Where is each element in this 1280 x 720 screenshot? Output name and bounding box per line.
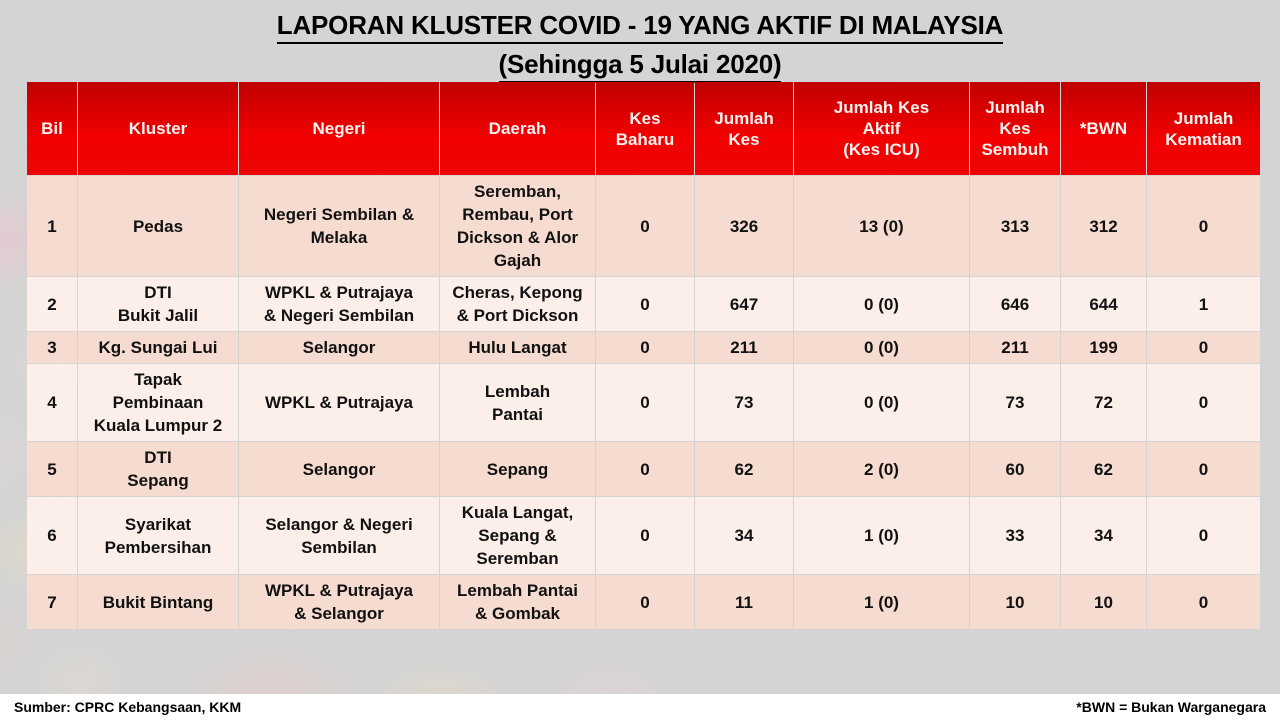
column-header-kematian: JumlahKematian [1147,82,1260,175]
cell-negeri: WPKL & Putrajaya& Selangor [239,575,439,629]
column-header-daerah: Daerah [440,82,595,175]
table-body: 1PedasNegeri Sembilan &MelakaSeremban,Re… [27,176,1260,629]
cell-kluster: Pedas [78,176,238,276]
cell-negeri: WPKL & Putrajaya& Negeri Sembilan [239,277,439,331]
table-row: 7Bukit BintangWPKL & Putrajaya& Selangor… [27,575,1260,629]
cell-kes-sembuh: 60 [970,442,1060,496]
cell-kes-aktif: 1 (0) [794,497,969,574]
column-header-kluster: Kluster [78,82,238,175]
cell-bwn: 72 [1061,364,1146,441]
cell-kes-aktif: 0 (0) [794,277,969,331]
table-header-row: BilKlusterNegeriDaerahKesBaharuJumlahKes… [27,82,1260,175]
cell-bwn: 34 [1061,497,1146,574]
column-header-kes-sembuh: JumlahKesSembuh [970,82,1060,175]
cell-jumlah-kes: 647 [695,277,793,331]
table-row: 4TapakPembinaanKuala Lumpur 2WPKL & Putr… [27,364,1260,441]
cell-kes-sembuh: 211 [970,332,1060,363]
cell-kluster: SyarikatPembersihan [78,497,238,574]
cell-daerah: Seremban,Rembau, PortDickson & AlorGajah [440,176,595,276]
cell-bwn: 199 [1061,332,1146,363]
cell-jumlah-kes: 326 [695,176,793,276]
cell-kluster: TapakPembinaanKuala Lumpur 2 [78,364,238,441]
cell-kematian: 0 [1147,176,1260,276]
column-header-bwn: *BWN [1061,82,1146,175]
cell-bwn: 10 [1061,575,1146,629]
cell-kes-aktif: 13 (0) [794,176,969,276]
cell-bwn: 312 [1061,176,1146,276]
cell-bwn: 62 [1061,442,1146,496]
cell-kes-sembuh: 646 [970,277,1060,331]
column-header-bil: Bil [27,82,77,175]
cell-jumlah-kes: 11 [695,575,793,629]
cell-kematian: 0 [1147,364,1260,441]
cell-kes-baharu: 0 [596,176,694,276]
cell-kes-sembuh: 33 [970,497,1060,574]
cell-daerah: Sepang [440,442,595,496]
footer-source: Sumber: CPRC Kebangsaan, KKM [14,699,241,715]
cell-kematian: 0 [1147,497,1260,574]
cell-kes-baharu: 0 [596,497,694,574]
cell-daerah: Hulu Langat [440,332,595,363]
cell-kluster: Kg. Sungai Lui [78,332,238,363]
page-title-line-2: (Sehingga 5 Julai 2020) [499,47,782,83]
cell-jumlah-kes: 34 [695,497,793,574]
page-title-line-1: LAPORAN KLUSTER COVID - 19 YANG AKTIF DI… [277,8,1003,44]
cell-kes-baharu: 0 [596,364,694,441]
cell-kes-sembuh: 73 [970,364,1060,441]
cell-bil: 6 [27,497,77,574]
cell-kes-aktif: 0 (0) [794,332,969,363]
cell-bil: 7 [27,575,77,629]
table-row: 5DTISepangSelangorSepang0622 (0)60620 [27,442,1260,496]
cell-daerah: Cheras, Kepong& Port Dickson [440,277,595,331]
cell-bil: 3 [27,332,77,363]
table-row: 2DTIBukit JalilWPKL & Putrajaya& Negeri … [27,277,1260,331]
cell-daerah: Kuala Langat,Sepang &Seremban [440,497,595,574]
cell-kematian: 0 [1147,332,1260,363]
cell-kluster: Bukit Bintang [78,575,238,629]
table-row: 6SyarikatPembersihanSelangor & NegeriSem… [27,497,1260,574]
cluster-table-container: BilKlusterNegeriDaerahKesBaharuJumlahKes… [26,81,1254,630]
cell-kes-aktif: 2 (0) [794,442,969,496]
column-header-kes-baharu: KesBaharu [596,82,694,175]
slide-canvas: LAPORAN KLUSTER COVID - 19 YANG AKTIF DI… [0,0,1280,720]
cell-negeri: Selangor [239,332,439,363]
cell-daerah: Lembah Pantai& Gombak [440,575,595,629]
column-header-jumlah-kes: JumlahKes [695,82,793,175]
cell-negeri: Selangor [239,442,439,496]
column-header-kes-aktif: Jumlah KesAktif(Kes ICU) [794,82,969,175]
cell-negeri: Selangor & NegeriSembilan [239,497,439,574]
cell-jumlah-kes: 211 [695,332,793,363]
cell-kes-sembuh: 313 [970,176,1060,276]
cell-daerah: LembahPantai [440,364,595,441]
cell-bil: 1 [27,176,77,276]
column-header-negeri: Negeri [239,82,439,175]
footer-note: *BWN = Bukan Warganegara [1076,699,1266,715]
table-header: BilKlusterNegeriDaerahKesBaharuJumlahKes… [27,82,1260,175]
cell-jumlah-kes: 73 [695,364,793,441]
cell-kematian: 0 [1147,442,1260,496]
cell-bil: 2 [27,277,77,331]
cell-bil: 5 [27,442,77,496]
cell-kes-baharu: 0 [596,277,694,331]
cell-kes-sembuh: 10 [970,575,1060,629]
cell-negeri: Negeri Sembilan &Melaka [239,176,439,276]
table-row: 3Kg. Sungai LuiSelangorHulu Langat02110 … [27,332,1260,363]
page-title: LAPORAN KLUSTER COVID - 19 YANG AKTIF DI… [0,8,1280,83]
cell-kes-baharu: 0 [596,332,694,363]
cell-jumlah-kes: 62 [695,442,793,496]
cell-negeri: WPKL & Putrajaya [239,364,439,441]
cell-kes-baharu: 0 [596,442,694,496]
active-cluster-table: BilKlusterNegeriDaerahKesBaharuJumlahKes… [26,81,1261,630]
footer-bar: Sumber: CPRC Kebangsaan, KKM *BWN = Buka… [0,694,1280,720]
cell-kes-aktif: 0 (0) [794,364,969,441]
cell-kematian: 0 [1147,575,1260,629]
table-row: 1PedasNegeri Sembilan &MelakaSeremban,Re… [27,176,1260,276]
cell-bwn: 644 [1061,277,1146,331]
cell-kes-baharu: 0 [596,575,694,629]
cell-kluster: DTIBukit Jalil [78,277,238,331]
cell-bil: 4 [27,364,77,441]
cell-kluster: DTISepang [78,442,238,496]
cell-kes-aktif: 1 (0) [794,575,969,629]
cell-kematian: 1 [1147,277,1260,331]
